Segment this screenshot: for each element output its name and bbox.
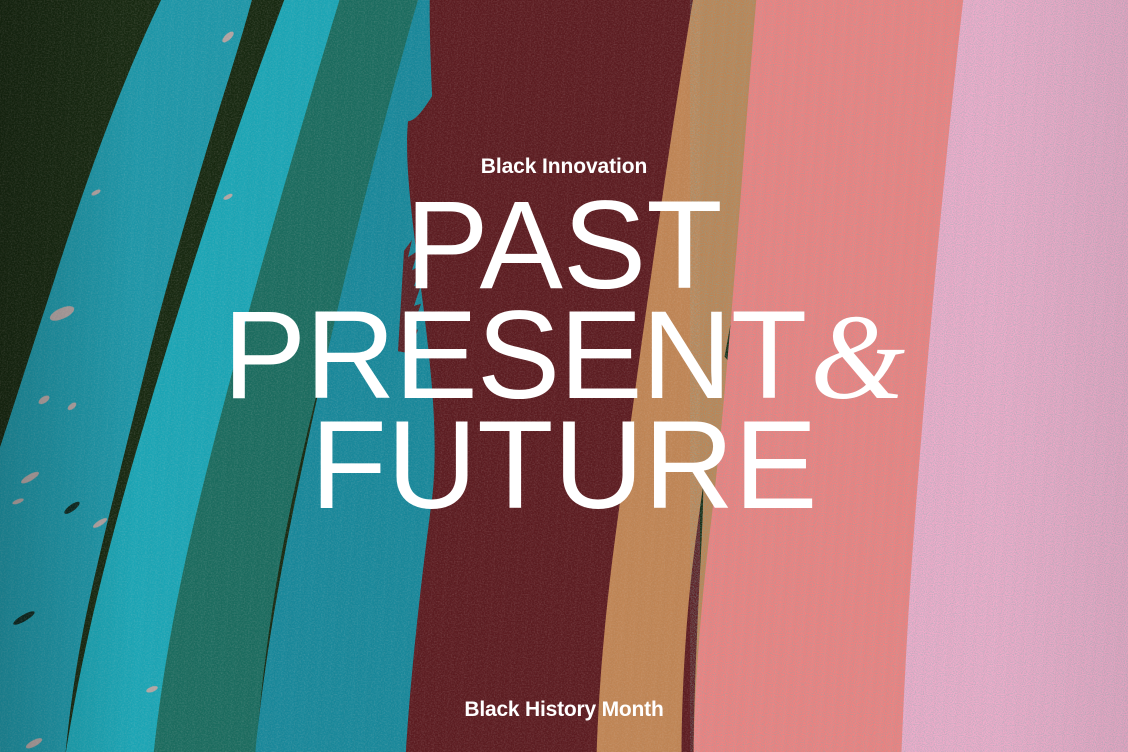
poster-canvas: Black Innovation PAST PRESENT& FUTURE Bl… [0, 0, 1128, 752]
eyebrow-text: Black Innovation [0, 156, 1128, 177]
ampersand-glyph: & [806, 290, 905, 425]
headline-line-past: PAST [0, 192, 1128, 300]
headline-line-present: PRESENT& [0, 302, 1128, 411]
footer-text: Black History Month [0, 699, 1128, 720]
headline-line-future: FUTURE [0, 412, 1128, 520]
poster-typography: Black Innovation PAST PRESENT& FUTURE Bl… [0, 0, 1128, 752]
headline-block: PAST PRESENT& FUTURE [0, 192, 1128, 520]
